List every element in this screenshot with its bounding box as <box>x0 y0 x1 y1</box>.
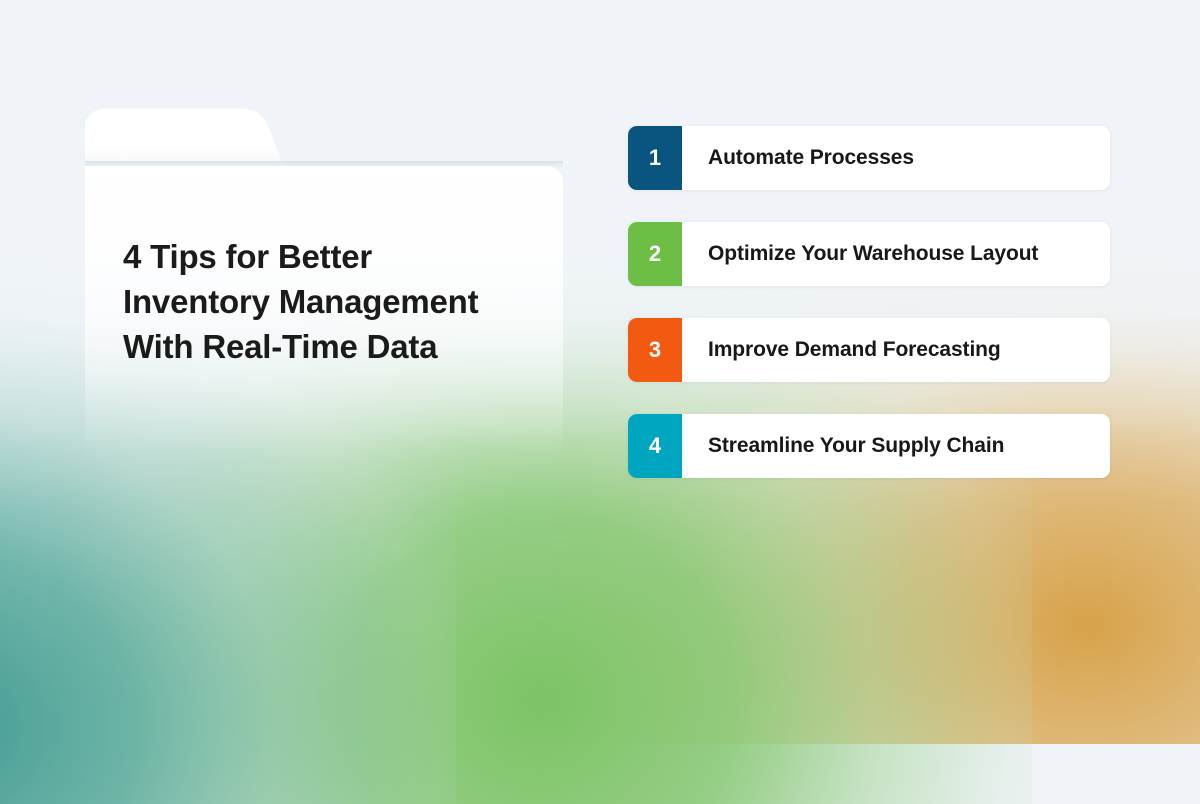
page-title: 4 Tips for Better Inventory Management W… <box>123 234 553 369</box>
tip-row[interactable]: 3 Improve Demand Forecasting <box>628 318 1110 382</box>
tips-list: 1 Automate Processes 2 Optimize Your War… <box>628 126 1110 478</box>
page-title-line-3: With Real-Time Data <box>123 324 553 369</box>
tip-label: Improve Demand Forecasting <box>682 318 1110 382</box>
tip-label: Automate Processes <box>682 126 1110 190</box>
folder-tab-surface <box>85 108 283 164</box>
folder-tab <box>85 108 283 164</box>
tip-row[interactable]: 2 Optimize Your Warehouse Layout <box>628 222 1110 286</box>
tip-row[interactable]: 1 Automate Processes <box>628 126 1110 190</box>
tip-number-badge: 2 <box>628 222 682 286</box>
tip-label: Streamline Your Supply Chain <box>682 414 1110 478</box>
tip-number-badge: 3 <box>628 318 682 382</box>
tip-row[interactable]: 4 Streamline Your Supply Chain <box>628 414 1110 478</box>
page-title-line-2: Inventory Management <box>123 279 553 324</box>
tip-number-badge: 4 <box>628 414 682 478</box>
tip-number-badge: 1 <box>628 126 682 190</box>
tip-label: Optimize Your Warehouse Layout <box>682 222 1110 286</box>
page-title-line-1: 4 Tips for Better <box>123 234 553 279</box>
